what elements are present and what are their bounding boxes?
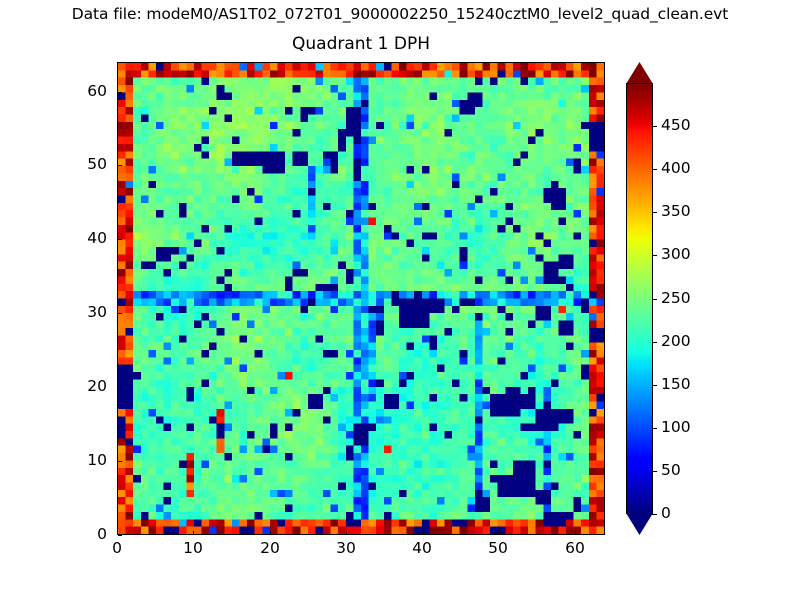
y-tick-label: 40 <box>47 230 107 247</box>
x-tick-mark <box>270 531 271 535</box>
x-tick-label: 50 <box>468 540 528 557</box>
colorbar-tick-label: 100 <box>661 419 691 436</box>
y-tick-mark <box>118 313 122 314</box>
x-tick-mark <box>346 531 347 535</box>
figure-canvas: Data file: modeM0/AS1T02_072T01_90000022… <box>0 0 800 600</box>
y-tick-label: 10 <box>47 452 107 469</box>
colorbar-tick-label: 200 <box>661 333 691 350</box>
colorbar-body[interactable] <box>626 83 653 514</box>
heatmap-image[interactable] <box>118 63 604 534</box>
colorbar-tick-mark <box>652 169 657 170</box>
x-tick-label: 10 <box>163 540 223 557</box>
colorbar-tick-mark <box>652 126 657 127</box>
x-tick-label: 30 <box>316 540 376 557</box>
heatmap-axes[interactable] <box>117 62 605 535</box>
x-tick-mark <box>575 531 576 535</box>
colorbar-tick-label: 50 <box>661 462 681 479</box>
y-tick-label: 30 <box>47 304 107 321</box>
colorbar-tick-mark <box>652 428 657 429</box>
y-tick-mark <box>118 535 122 536</box>
x-tick-mark <box>498 531 499 535</box>
colorbar-tick-label: 250 <box>661 290 691 307</box>
colorbar-tick-label: 150 <box>661 376 691 393</box>
data-file-suptitle: Data file: modeM0/AS1T02_072T01_90000022… <box>0 4 800 24</box>
x-tick-label: 40 <box>392 540 452 557</box>
colorbar-extend-min-arrow-icon <box>626 513 653 535</box>
page-title: Quadrant 1 DPH <box>117 33 605 55</box>
colorbar-tick-label: 0 <box>661 505 671 522</box>
colorbar[interactable]: 050100150200250300350400450 <box>626 62 653 535</box>
y-tick-label: 60 <box>47 83 107 100</box>
y-tick-label: 20 <box>47 378 107 395</box>
y-tick-label: 0 <box>47 526 107 543</box>
x-tick-mark <box>193 531 194 535</box>
colorbar-tick-mark <box>652 471 657 472</box>
colorbar-tick-mark <box>652 514 657 515</box>
colorbar-tick-label: 350 <box>661 203 691 220</box>
colorbar-tick-mark <box>652 255 657 256</box>
y-tick-mark <box>118 387 122 388</box>
colorbar-tick-mark <box>652 299 657 300</box>
x-tick-label: 20 <box>240 540 300 557</box>
colorbar-tick-mark <box>652 212 657 213</box>
colorbar-tick-label: 450 <box>661 117 691 134</box>
colorbar-tick-label: 300 <box>661 246 691 263</box>
x-tick-label: 60 <box>545 540 605 557</box>
y-tick-mark <box>118 165 122 166</box>
y-tick-mark <box>118 239 122 240</box>
y-tick-mark <box>118 92 122 93</box>
colorbar-extend-max-arrow-icon <box>626 62 653 84</box>
colorbar-tick-mark <box>652 342 657 343</box>
colorbar-tick-label: 400 <box>661 160 691 177</box>
colorbar-gradient <box>627 84 652 513</box>
y-tick-label: 50 <box>47 156 107 173</box>
y-tick-mark <box>118 461 122 462</box>
x-tick-mark <box>422 531 423 535</box>
colorbar-tick-mark <box>652 385 657 386</box>
